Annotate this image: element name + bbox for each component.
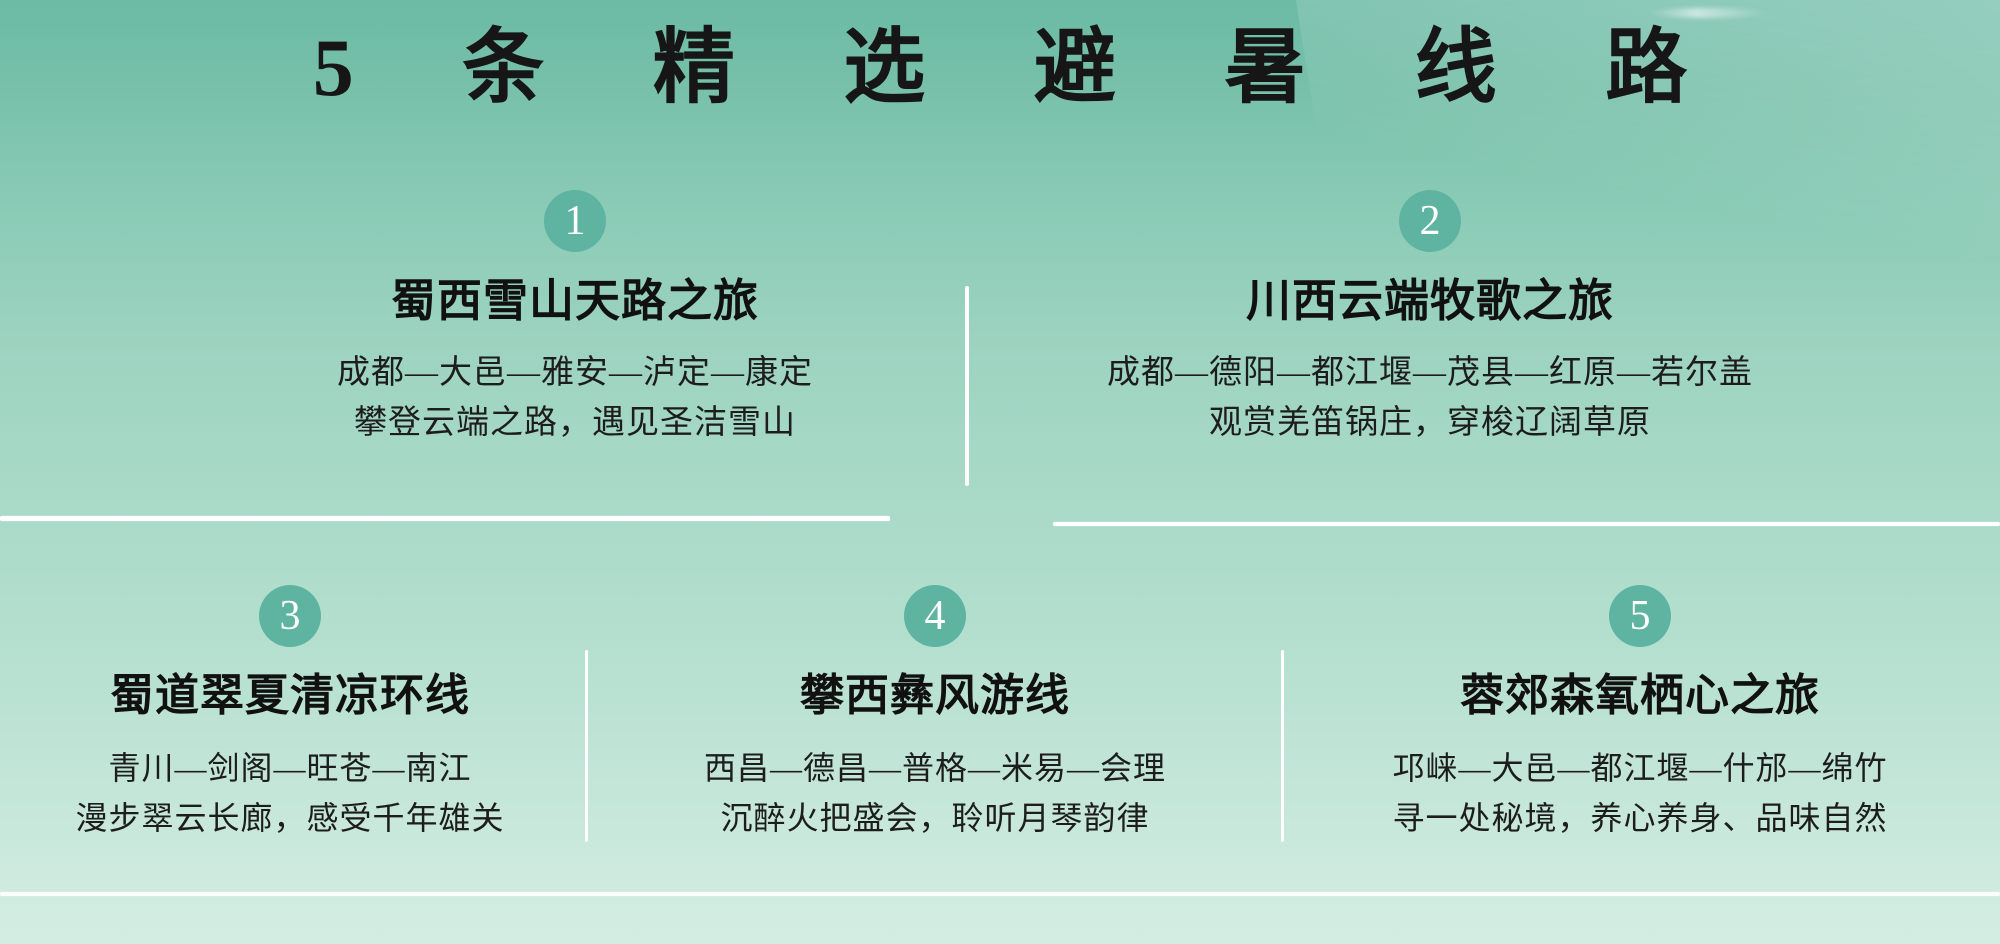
divider-vertical-bottom-right (1281, 650, 1284, 842)
route-number-badge: 4 (904, 585, 966, 647)
route-card-3[interactable]: 3 蜀道翠夏清凉环线 青川—剑阁—旺苍—南江 漫步翠云长廊，感受千年雄关 (0, 585, 590, 841)
route-description: 漫步翠云长廊，感受千年雄关 (0, 795, 590, 841)
route-path: 西昌—德昌—普格—米易—会理 (590, 745, 1280, 791)
route-title: 蓉郊森氧栖心之旅 (1290, 669, 1990, 723)
poster-root: 5 条 精 选 避 暑 线 路 1 蜀西雪山天路之旅 成都—大邑—雅安—泸定—康… (0, 0, 2000, 944)
route-path: 成都—大邑—雅安—泸定—康定 (180, 350, 970, 396)
route-description: 攀登云端之路，遇见圣洁雪山 (180, 400, 970, 446)
route-description: 观赏羌笛锅庄，穿梭辽阔草原 (1030, 400, 1830, 446)
route-number-badge: 2 (1399, 190, 1461, 252)
route-description: 沉醉火把盛会，聆听月琴韵律 (590, 795, 1280, 841)
route-path: 邛崃—大邑—都江堰—什邡—绵竹 (1290, 745, 1990, 791)
route-number-badge: 1 (544, 190, 606, 252)
route-title: 川西云端牧歌之旅 (1030, 274, 1830, 328)
divider-horizontal-right (1053, 522, 2000, 526)
route-title: 蜀西雪山天路之旅 (180, 274, 970, 328)
page-title: 5 条 精 选 避 暑 线 路 (0, 18, 2000, 118)
route-title: 攀西彝风游线 (590, 669, 1280, 723)
route-card-2[interactable]: 2 川西云端牧歌之旅 成都—德阳—都江堰—茂县—红原—若尔盖 观赏羌笛锅庄，穿梭… (1030, 190, 1830, 446)
route-path: 成都—德阳—都江堰—茂县—红原—若尔盖 (1030, 350, 1830, 396)
corner-highlight-streak (1648, 8, 1768, 18)
route-path: 青川—剑阁—旺苍—南江 (0, 745, 590, 791)
route-card-4[interactable]: 4 攀西彝风游线 西昌—德昌—普格—米易—会理 沉醉火把盛会，聆听月琴韵律 (590, 585, 1280, 841)
route-number-badge: 3 (259, 585, 321, 647)
route-description: 寻一处秘境，养心养身、品味自然 (1290, 795, 1990, 841)
divider-horizontal-bottom (0, 892, 2000, 896)
route-card-5[interactable]: 5 蓉郊森氧栖心之旅 邛崃—大邑—都江堰—什邡—绵竹 寻一处秘境，养心养身、品味… (1290, 585, 1990, 841)
route-title: 蜀道翠夏清凉环线 (0, 669, 590, 723)
divider-horizontal-left (0, 516, 890, 521)
route-card-1[interactable]: 1 蜀西雪山天路之旅 成都—大邑—雅安—泸定—康定 攀登云端之路，遇见圣洁雪山 (180, 190, 970, 446)
route-number-badge: 5 (1609, 585, 1671, 647)
